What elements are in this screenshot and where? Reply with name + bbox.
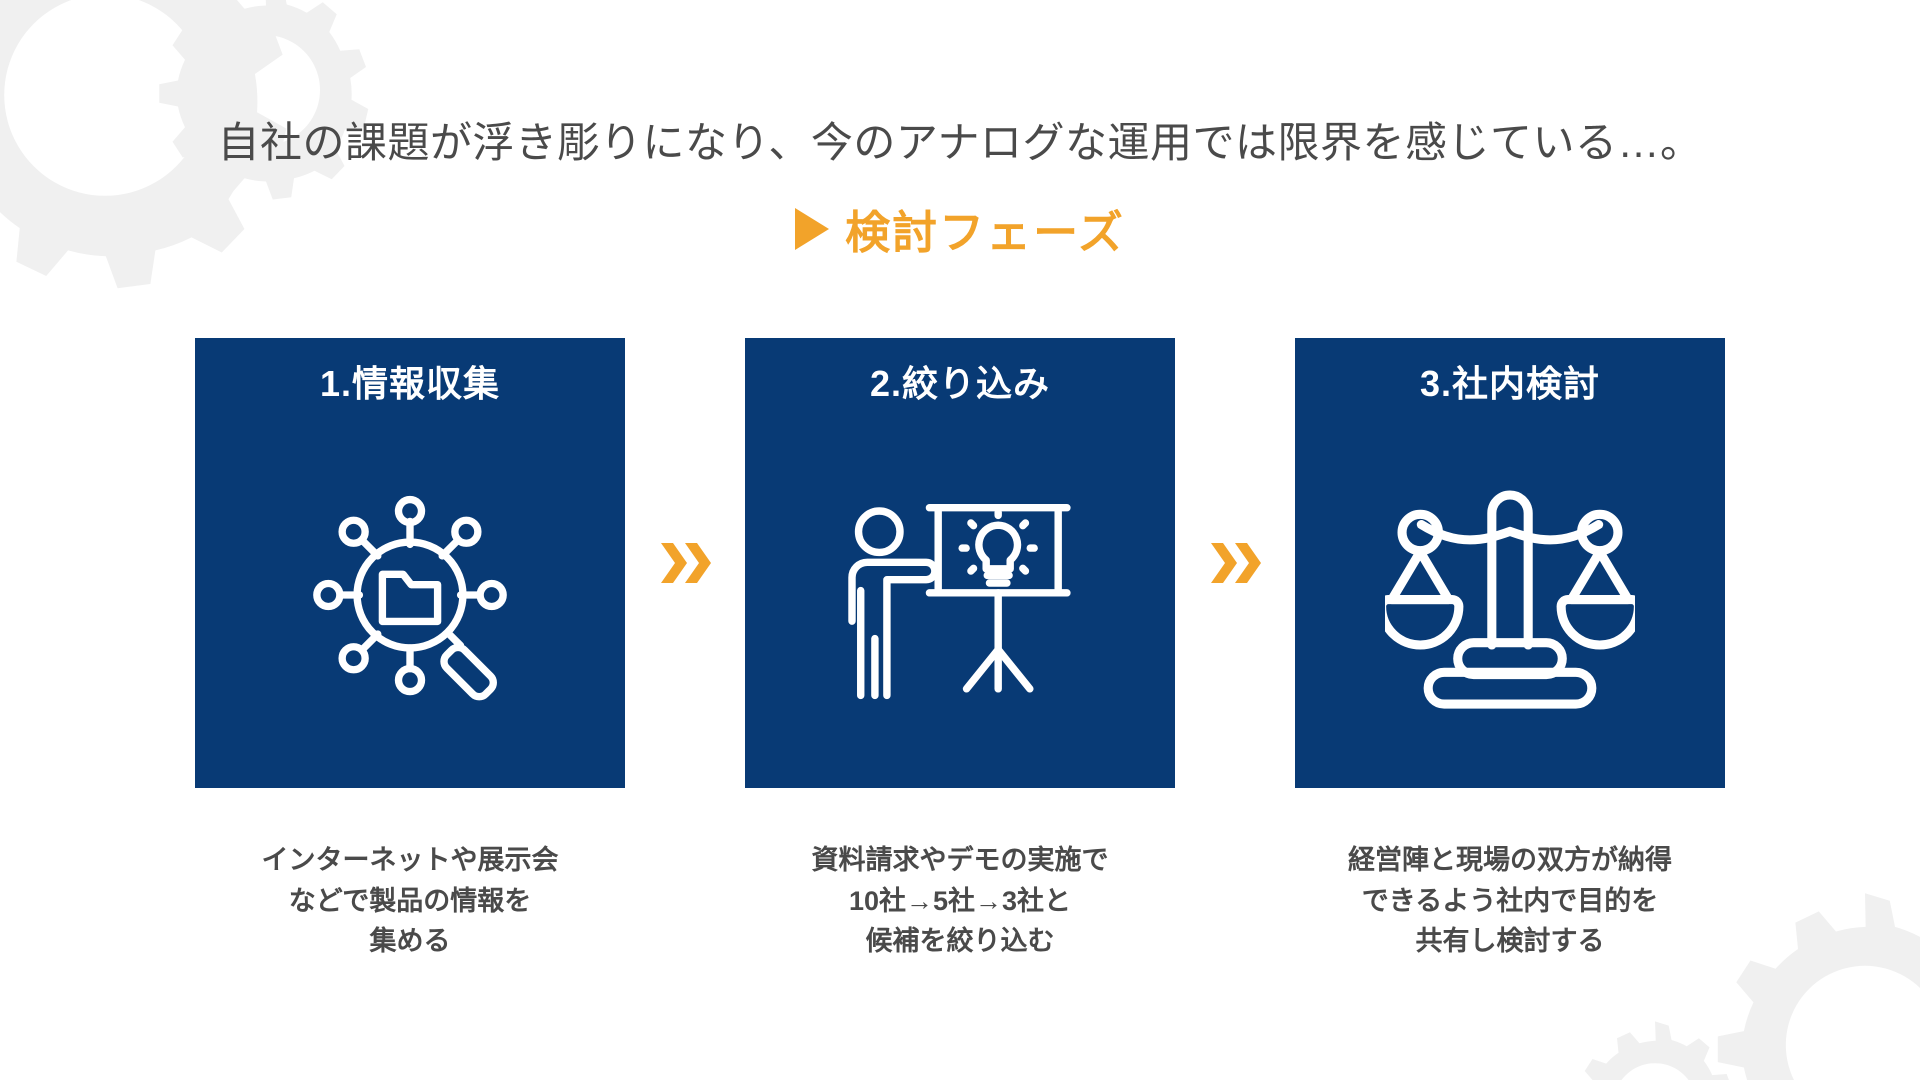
step-separator-1 [625, 338, 745, 788]
phase-banner: 検討フェーズ [0, 196, 1920, 261]
steps-row: 1.情報収集 [0, 338, 1920, 962]
balance-scales-icon [1385, 480, 1635, 710]
step-card-3[interactable]: 3.社内検討 [1295, 338, 1725, 788]
double-chevron-right-icon [1207, 535, 1263, 591]
step-caption-2: 資料請求やデモの実施で 10社→5社→3社と 候補を絞り込む [812, 840, 1109, 962]
step-icon-wrap-2 [745, 402, 1175, 788]
page-headline: 自社の課題が浮き彫りになり、今のアナログな運用では限界を感じている…。 [0, 118, 1920, 168]
step-column-2: 2.絞り込み [745, 338, 1175, 962]
gear-top-left-small-icon [140, 0, 390, 215]
step-card-2[interactable]: 2.絞り込み [745, 338, 1175, 788]
presenter-whiteboard-lightbulb-icon [840, 480, 1080, 710]
step-separator-2 [1175, 338, 1295, 788]
double-chevron-right-icon [657, 535, 713, 591]
step-title-2: 2.絞り込み [870, 366, 1050, 402]
step-caption-3: 経営陣と現場の双方が納得 できるよう社内で目的を 共有し検討する [1348, 840, 1672, 962]
step-column-3: 3.社内検討 [1295, 338, 1725, 962]
gear-bottom-right-small-icon [1560, 1010, 1750, 1080]
step-card-1[interactable]: 1.情報収集 [195, 338, 625, 788]
step-caption-1: インターネットや展示会 などで製品の情報を 集める [262, 840, 559, 962]
play-triangle-icon [795, 208, 829, 250]
step-column-1: 1.情報収集 [195, 338, 625, 962]
step-icon-wrap-3 [1295, 402, 1725, 788]
step-title-1: 1.情報収集 [320, 366, 500, 402]
magnifier-folder-network-icon [295, 480, 525, 710]
phase-label: 検討フェーズ [845, 196, 1125, 261]
step-icon-wrap-1 [195, 402, 625, 788]
slide-canvas: 自社の課題が浮き彫りになり、今のアナログな運用では限界を感じている…。 検討フェ… [0, 0, 1920, 1080]
step-title-3: 3.社内検討 [1420, 366, 1600, 402]
